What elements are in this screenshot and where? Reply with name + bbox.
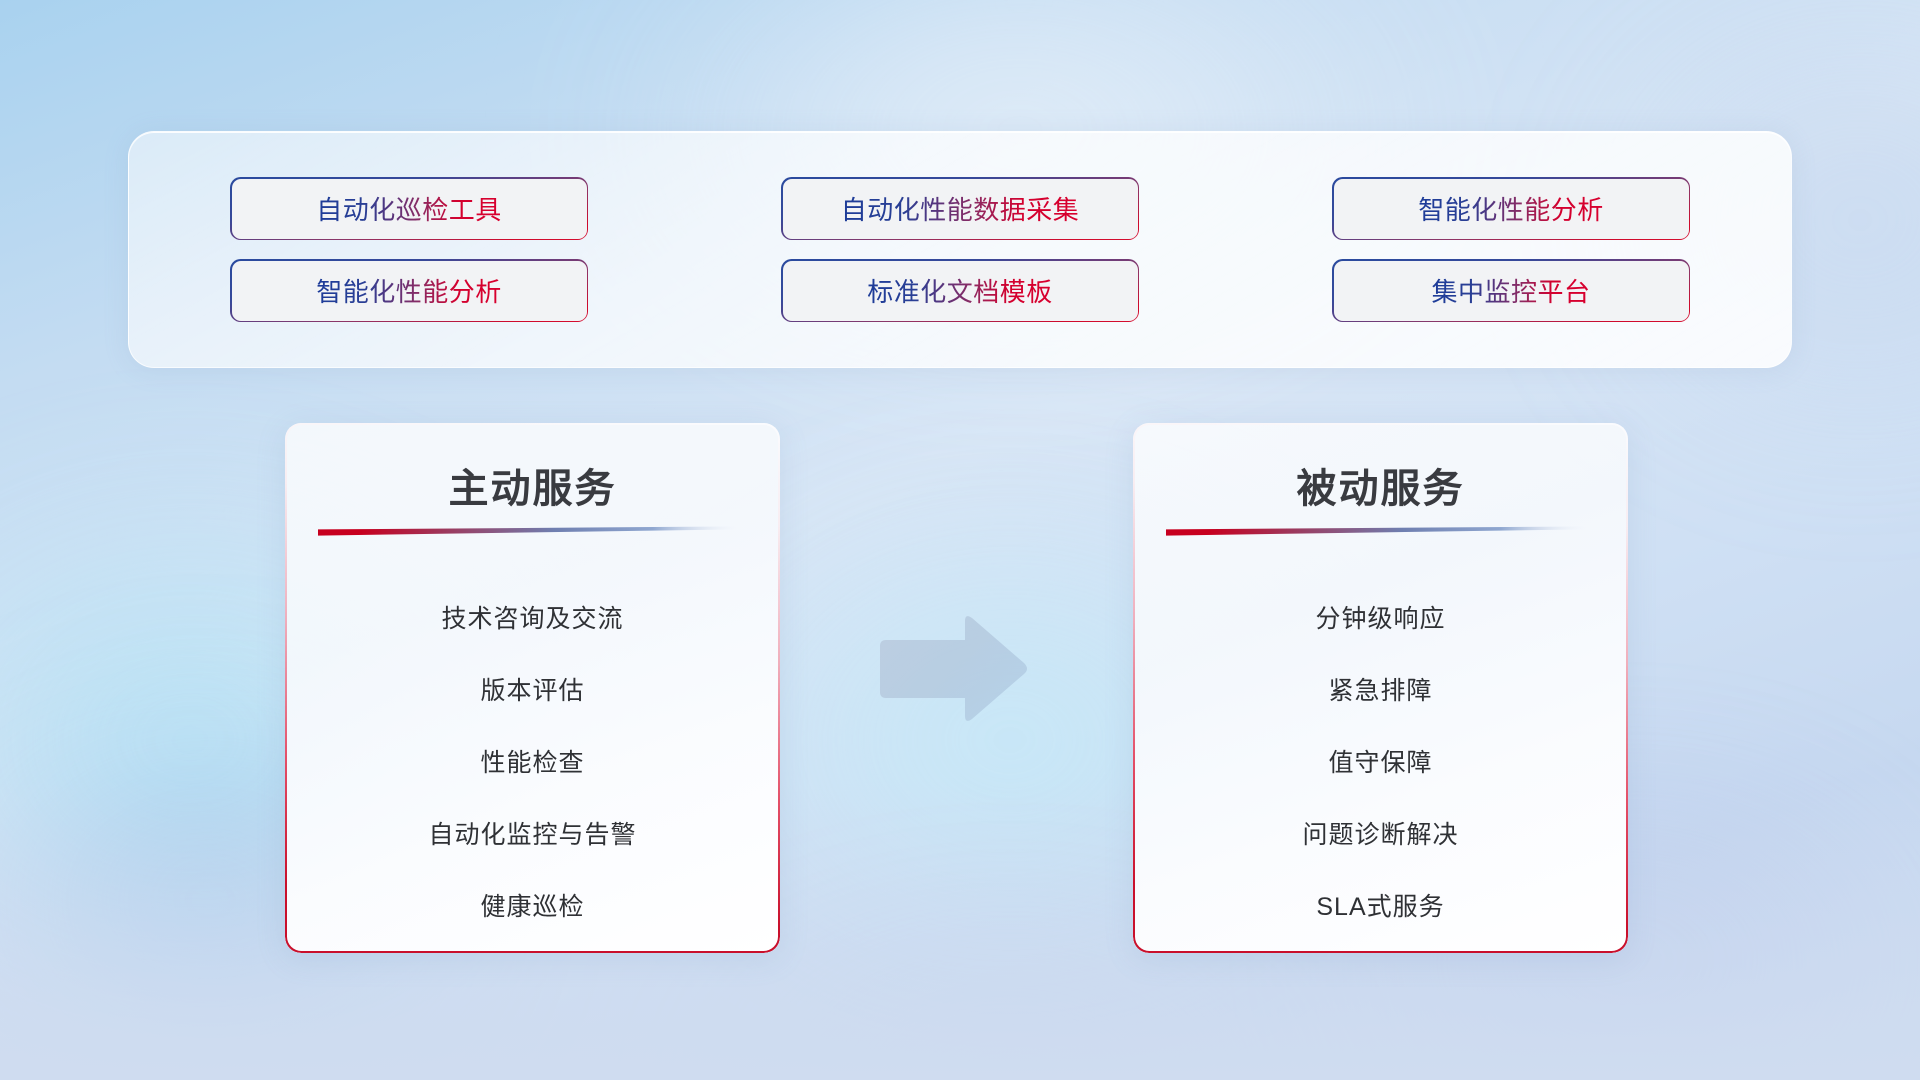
capability-tag-box[interactable]: 智能化性能分析 <box>232 261 587 321</box>
list-item: 版本评估 <box>480 655 584 727</box>
capabilities-panel: 自动化巡检工具 自动化性能数据采集 智能化性能分析 智能化性能分析 标准化文档模… <box>128 131 1792 368</box>
list-item: 紧急排障 <box>1328 655 1432 727</box>
list-item: 健康巡检 <box>480 871 584 943</box>
capability-tag[interactable]: 智能化性能分析 <box>232 261 587 321</box>
list-item: 性能检查 <box>480 727 584 799</box>
service-card-passive: 被动服务 分钟级响应 紧急排障 值守保障 问题诊断解决 SLA式服务 <box>1133 423 1628 953</box>
capability-tag[interactable]: 智能化性能分析 <box>1334 179 1689 239</box>
list-item: 分钟级响应 <box>1315 583 1445 655</box>
arrow-right-icon <box>872 612 1030 726</box>
capability-tag-label: 标准化文档模板 <box>867 272 1053 309</box>
capability-tag-label: 集中监控平台 <box>1431 272 1590 309</box>
card-title: 主动服务 <box>285 456 780 514</box>
card-title-divider <box>318 526 747 539</box>
capability-tag[interactable]: 集中监控平台 <box>1334 261 1689 321</box>
list-item: 技术咨询及交流 <box>441 583 623 655</box>
list-item: SLA式服务 <box>1316 871 1444 943</box>
card-item-list: 技术咨询及交流 版本评估 性能检查 自动化监控与告警 健康巡检 <box>285 583 780 943</box>
service-card-active: 主动服务 技术咨询及交流 版本评估 性能检查 自动化监控与告警 健康巡检 <box>285 423 780 953</box>
capability-tag-grid: 自动化巡检工具 自动化性能数据采集 智能化性能分析 智能化性能分析 标准化文档模… <box>232 179 1689 321</box>
capability-tag-box[interactable]: 标准化文档模板 <box>783 261 1138 321</box>
capability-tag-box[interactable]: 自动化巡检工具 <box>232 179 587 239</box>
capability-tag-label: 自动化巡检工具 <box>316 190 502 227</box>
card-title: 被动服务 <box>1133 456 1628 514</box>
capability-tag-box[interactable]: 集中监控平台 <box>1334 261 1689 321</box>
list-item: 值守保障 <box>1328 727 1432 799</box>
capability-tag-label: 智能化性能分析 <box>316 272 502 309</box>
card-title-divider <box>1166 526 1595 539</box>
list-item: 问题诊断解决 <box>1302 799 1458 871</box>
capability-tag[interactable]: 标准化文档模板 <box>783 261 1138 321</box>
capability-tag[interactable]: 自动化巡检工具 <box>232 179 587 239</box>
card-item-list: 分钟级响应 紧急排障 值守保障 问题诊断解决 SLA式服务 <box>1133 583 1628 943</box>
capability-tag-label: 自动化性能数据采集 <box>841 190 1080 227</box>
capability-tag-box[interactable]: 智能化性能分析 <box>1334 179 1689 239</box>
capability-tag[interactable]: 自动化性能数据采集 <box>783 179 1138 239</box>
capability-tag-label: 智能化性能分析 <box>1418 190 1604 227</box>
list-item: 自动化监控与告警 <box>428 799 636 871</box>
capability-tag-box[interactable]: 自动化性能数据采集 <box>783 179 1138 239</box>
